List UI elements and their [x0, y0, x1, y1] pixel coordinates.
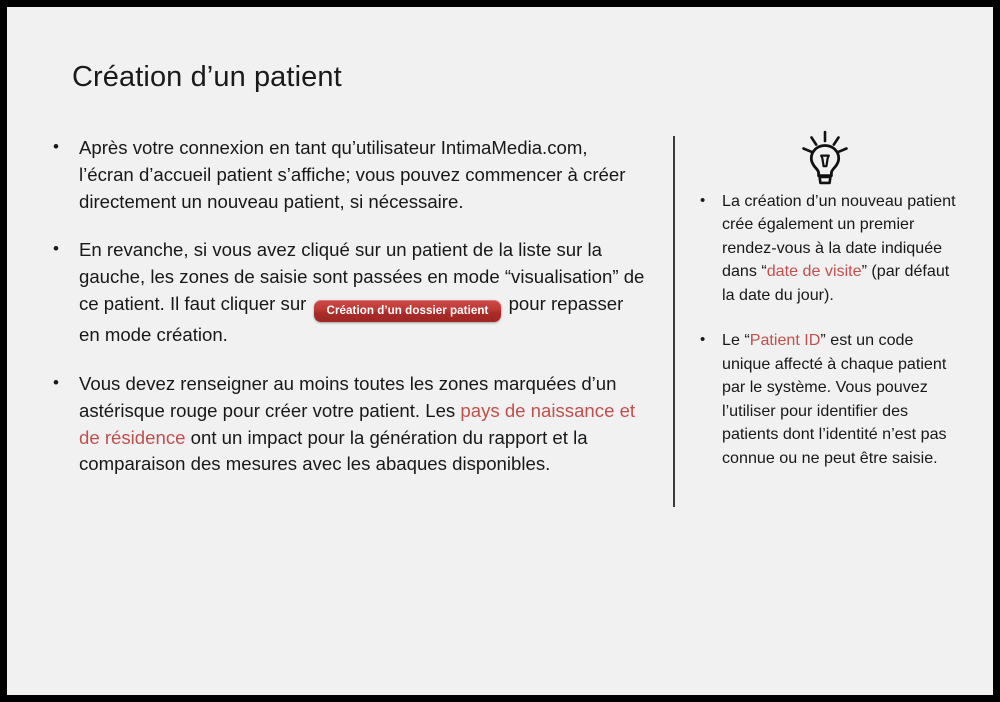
- bullet-item: •La création d’un nouveau patient crée é…: [692, 190, 957, 307]
- bullet-item: •En revanche, si vous avez cliqué sur un…: [45, 237, 645, 349]
- left-content-column: •Après votre connexion en tant qu’utilis…: [45, 135, 645, 500]
- bullet-item: •Le “Patient ID” est un code unique affe…: [692, 329, 957, 470]
- lightbulb-icon: [799, 130, 851, 186]
- bullet-text: Après votre connexion en tant qu’utilisa…: [79, 137, 625, 212]
- page-title: Création d’un patient: [72, 60, 342, 95]
- bullet-item: •Vous devez renseigner au moins toutes l…: [45, 371, 645, 478]
- creation-dossier-patient-button[interactable]: Création d’un dossier patient: [314, 300, 502, 323]
- bullet-text: Le “: [722, 331, 750, 349]
- vertical-divider: [673, 136, 675, 507]
- right-tip-column: •La création d’un nouveau patient crée é…: [692, 190, 957, 492]
- bullet-dot-icon: •: [700, 329, 705, 351]
- bullet-dot-icon: •: [53, 237, 59, 261]
- slide-canvas: Création d’un patient •Après votre conne…: [7, 7, 993, 695]
- highlighted-term: Patient ID: [750, 331, 821, 349]
- bullet-dot-icon: •: [53, 371, 59, 395]
- bullet-item: •Après votre connexion en tant qu’utilis…: [45, 135, 645, 215]
- bullet-dot-icon: •: [53, 135, 59, 159]
- slide-frame: Création d’un patient •Après votre conne…: [0, 0, 1000, 702]
- highlighted-term: date de visite: [767, 262, 862, 280]
- bullet-dot-icon: •: [700, 190, 705, 212]
- bullet-text: ” est un code unique affecté à chaque pa…: [722, 331, 947, 466]
